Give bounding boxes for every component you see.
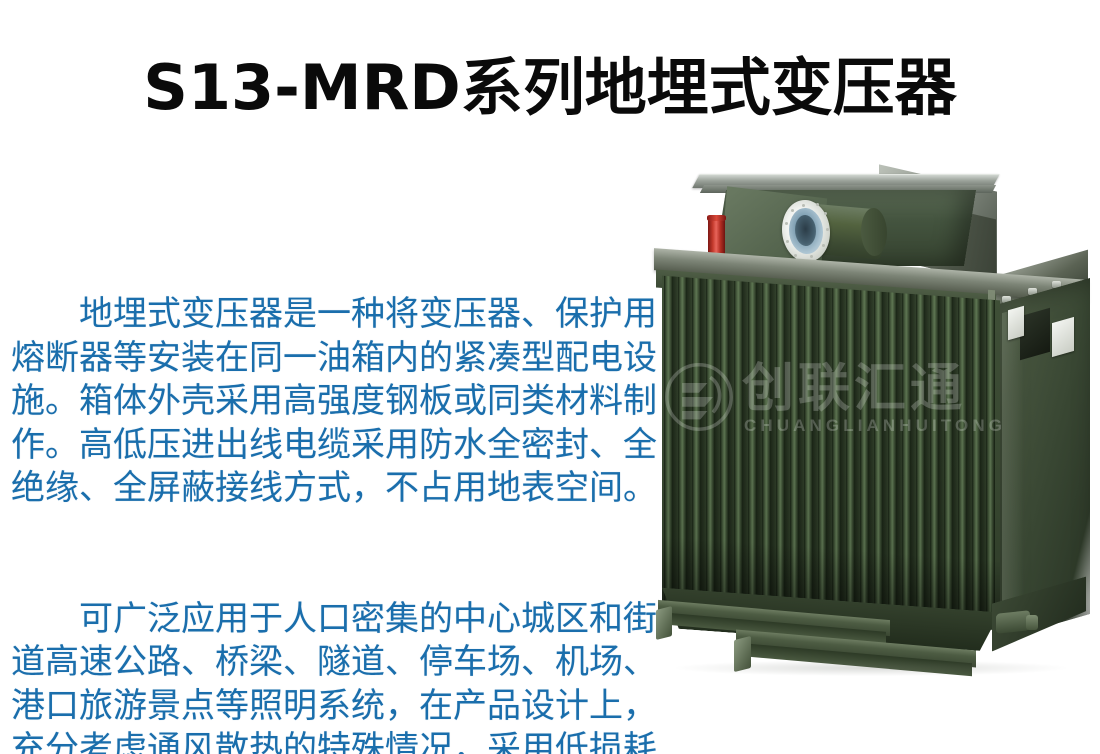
flange-bolt xyxy=(786,240,789,243)
flange-bolt xyxy=(785,222,788,225)
product-description: 地埋式变压器是一种将变压器、保护用熔断器等安装在同一油箱内的紧凑型配电设施。箱体… xyxy=(11,206,659,754)
nameplate-small xyxy=(1008,306,1024,341)
flange-bolt xyxy=(810,255,813,258)
transformer-tank xyxy=(662,276,1000,631)
nameplate-large xyxy=(1052,317,1074,357)
bushing-flange-hole xyxy=(795,214,816,246)
flange-bolt xyxy=(816,203,819,206)
drain-valve xyxy=(996,610,1030,634)
red-insulator-cap xyxy=(707,215,726,221)
flange-bolt xyxy=(802,204,805,207)
base-rail-front-end xyxy=(656,606,672,640)
flange-bolt xyxy=(794,254,797,257)
drain-valve-outlet xyxy=(1026,615,1038,630)
flange-bolt xyxy=(822,244,825,247)
description-paragraph-1: 地埋式变压器是一种将变压器、保护用熔断器等安装在同一油箱内的紧凑型配电设施。箱体… xyxy=(11,293,659,511)
product-photo xyxy=(636,160,1100,680)
description-paragraph-2: 可广泛应用于人口密集的中心城区和街道高速公路、桥梁、隧道、停车场、机场、港口旅游… xyxy=(11,598,659,754)
flange-bolt xyxy=(791,209,794,212)
page-title: S13-MRD系列地埋式变压器 xyxy=(0,52,1100,124)
flange-bolt xyxy=(826,228,829,231)
flange-bolt xyxy=(824,212,827,215)
ground-shadow xyxy=(676,660,1066,676)
page-root: S13-MRD系列地埋式变压器 地埋式变压器是一种将变压器、保护用熔断器等安装在… xyxy=(0,0,1100,754)
side-dark-panel xyxy=(1020,308,1050,361)
